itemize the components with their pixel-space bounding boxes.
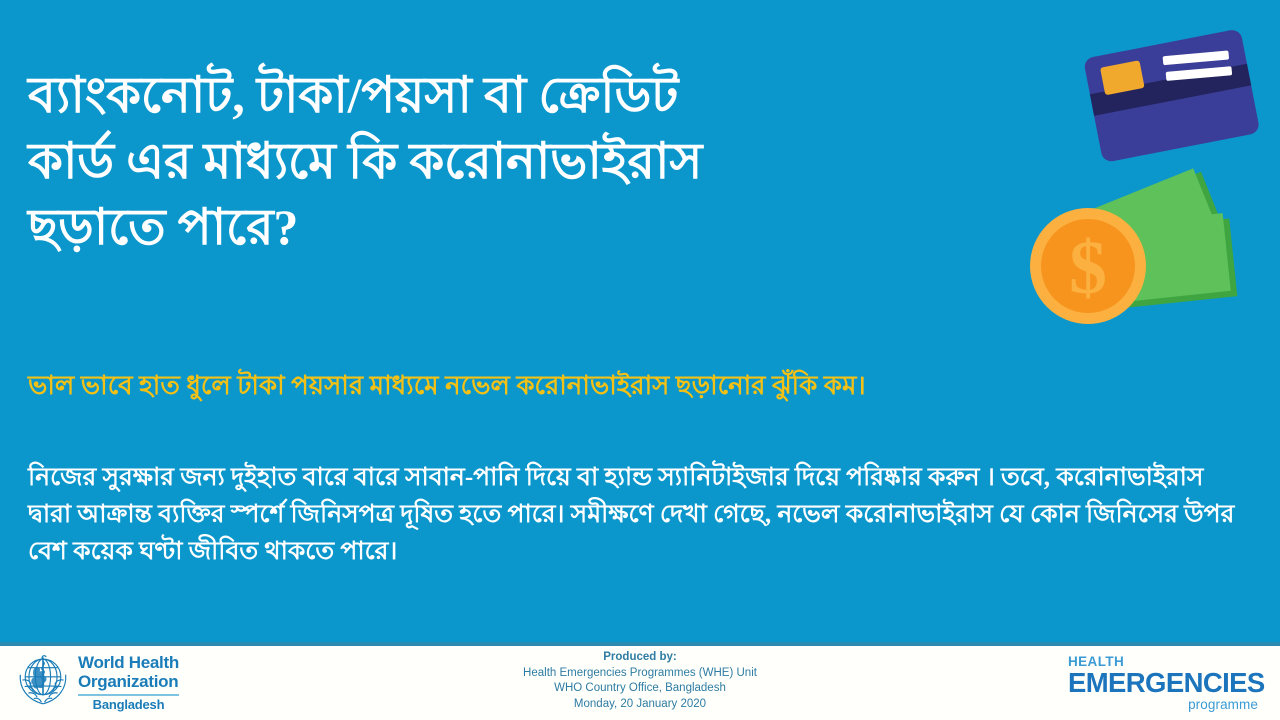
- who-logo-rule: [78, 694, 179, 696]
- who-logo-line1: World Health: [78, 654, 179, 673]
- who-emblem-icon: [16, 652, 70, 706]
- he-logo-main: EMERGENCIES: [1068, 669, 1258, 697]
- svg-text:$: $: [1069, 226, 1107, 310]
- payment-methods-illustration: $ $ $: [1010, 18, 1280, 358]
- body-paragraph: নিজের সুরক্ষার জন্য দুইহাত বারে বারে সাব…: [28, 459, 1243, 570]
- who-logo-line2: Organization: [78, 673, 179, 692]
- dollar-coin-icon: $: [1030, 208, 1146, 324]
- produced-by-date: Monday, 20 January 2020: [440, 697, 840, 713]
- produced-by-heading: Produced by:: [440, 650, 840, 666]
- produced-by-block: Produced by: Health Emergencies Programm…: [440, 650, 840, 712]
- he-logo-bottom: programme: [1068, 697, 1258, 712]
- who-logo-country: Bangladesh: [78, 698, 179, 712]
- produced-by-line1: Health Emergencies Programmes (WHE) Unit: [440, 666, 840, 682]
- produced-by-line2: WHO Country Office, Bangladesh: [440, 681, 840, 697]
- who-logo: World Health Organization Bangladesh: [16, 652, 179, 712]
- slide-canvas: ব্যাংকনোট, টাকা/পয়সা বা ক্রেডিট কার্ড এ…: [0, 0, 1280, 720]
- lead-paragraph: ভাল ভাবে হাত ধুলে টাকা পয়সার মাধ্যমে নভ…: [28, 366, 1233, 405]
- health-emergencies-logo: HEALTH EMERGENCIES programme: [1068, 654, 1258, 712]
- credit-card-icon: [1083, 28, 1260, 163]
- page-title: ব্যাংকনোট, টাকা/পয়সা বা ক্রেডিট কার্ড এ…: [28, 62, 988, 260]
